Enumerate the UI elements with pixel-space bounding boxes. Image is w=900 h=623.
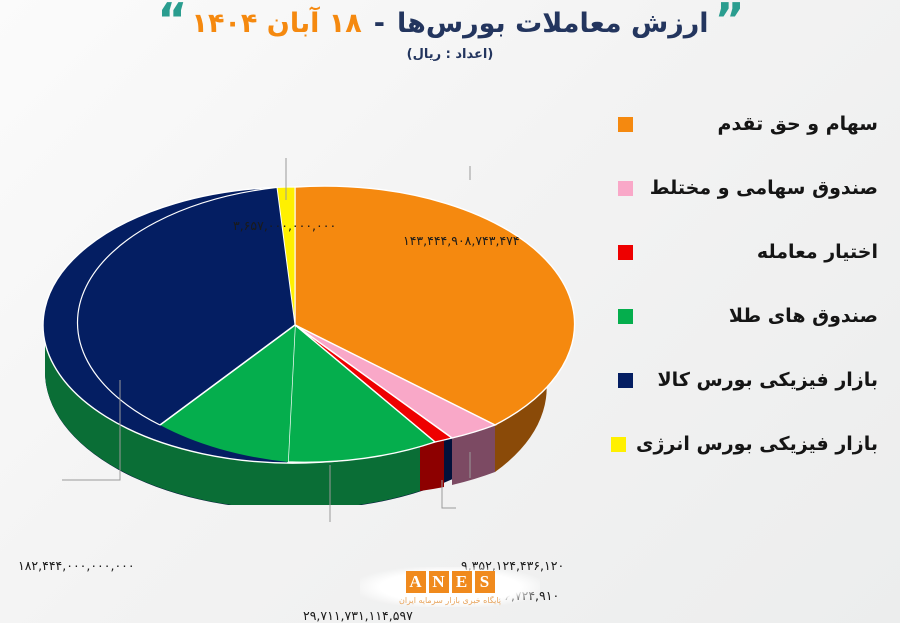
legend-item-commodity-exchange[interactable]: بازار فیزیکی بورس کالا (618, 348, 878, 412)
footer: S E N A پایگاه خبری بازار سرمایه ایران (0, 561, 900, 623)
legend-swatch-options (618, 245, 633, 260)
pie-chart-svg (0, 80, 610, 550)
legend-label-gold-funds: صندوق های طلا (633, 305, 878, 327)
legend-swatch-commodity-exchange (618, 373, 633, 388)
title-separator: - (368, 8, 391, 39)
legend-item-shares[interactable]: سهام و حق تقدم (618, 92, 878, 156)
legend-item-gold-funds[interactable]: صندوق های طلا (618, 284, 878, 348)
legend-item-mixed-funds[interactable]: صندوق سهامی و مختلط (618, 156, 878, 220)
legend-label-shares: سهام و حق تقدم (633, 113, 878, 135)
sena-logo-letters: S E N A (360, 571, 540, 593)
legend-label-commodity-exchange: بازار فیزیکی بورس کالا (633, 369, 878, 391)
legend-swatch-gold-funds (618, 309, 633, 324)
legend-label-energy-exchange: بازار فیزیکی بورس انرژی (626, 433, 878, 455)
sena-logo-subtitle: پایگاه خبری بازار سرمایه ایران (360, 596, 540, 605)
page-title: ارزش معاملات بورس‌ها (397, 8, 709, 39)
sena-logo-letter-a: A (406, 571, 426, 593)
legend-label-mixed-funds: صندوق سهامی و مختلط (633, 177, 878, 199)
sena-logo: S E N A پایگاه خبری بازار سرمایه ایران (360, 567, 540, 607)
quote-close-icon: ” (715, 5, 743, 35)
legend-item-options[interactable]: اختیار معامله (618, 220, 878, 284)
pie-wall-options (420, 440, 444, 491)
data-label-shares: ۱۴۳,۴۴۴,۹۰۸,۷۴۳,۴۷۴ (403, 233, 520, 248)
title-row: ” ارزش معاملات بورس‌ها - ۱۸ آبان ۱۴۰۴ “ (0, 8, 900, 39)
legend-item-energy-exchange[interactable]: بازار فیزیکی بورس انرژی (618, 412, 878, 476)
legend-swatch-energy-exchange (611, 437, 626, 452)
legend-swatch-shares (618, 117, 633, 132)
header: ” ارزش معاملات بورس‌ها - ۱۸ آبان ۱۴۰۴ “ … (0, 0, 900, 72)
sena-logo-letter-n: N (429, 571, 449, 593)
legend-swatch-mixed-funds (618, 181, 633, 196)
quote-open-icon: “ (157, 5, 185, 35)
chart-unit-subtitle: (اعداد : ریال) (0, 47, 900, 62)
legend-label-options: اختیار معامله (633, 241, 878, 263)
sena-logo-letter-s: S (475, 571, 495, 593)
data-label-energy-exchange: ۳,۶۵۷,۰۰۰,۰۰۰,۰۰۰ (233, 218, 336, 233)
chart-legend: سهام و حق تقدم صندوق سهامی و مختلط اختیا… (618, 92, 878, 476)
pie-chart: ۳,۶۵۷,۰۰۰,۰۰۰,۰۰۰ ۱۴۳,۴۴۴,۹۰۸,۷۴۳,۴۷۴ ۱۸… (0, 80, 610, 550)
sena-logo-letter-e: E (452, 571, 472, 593)
title-date: ۱۸ آبان ۱۴۰۴ (191, 8, 361, 39)
